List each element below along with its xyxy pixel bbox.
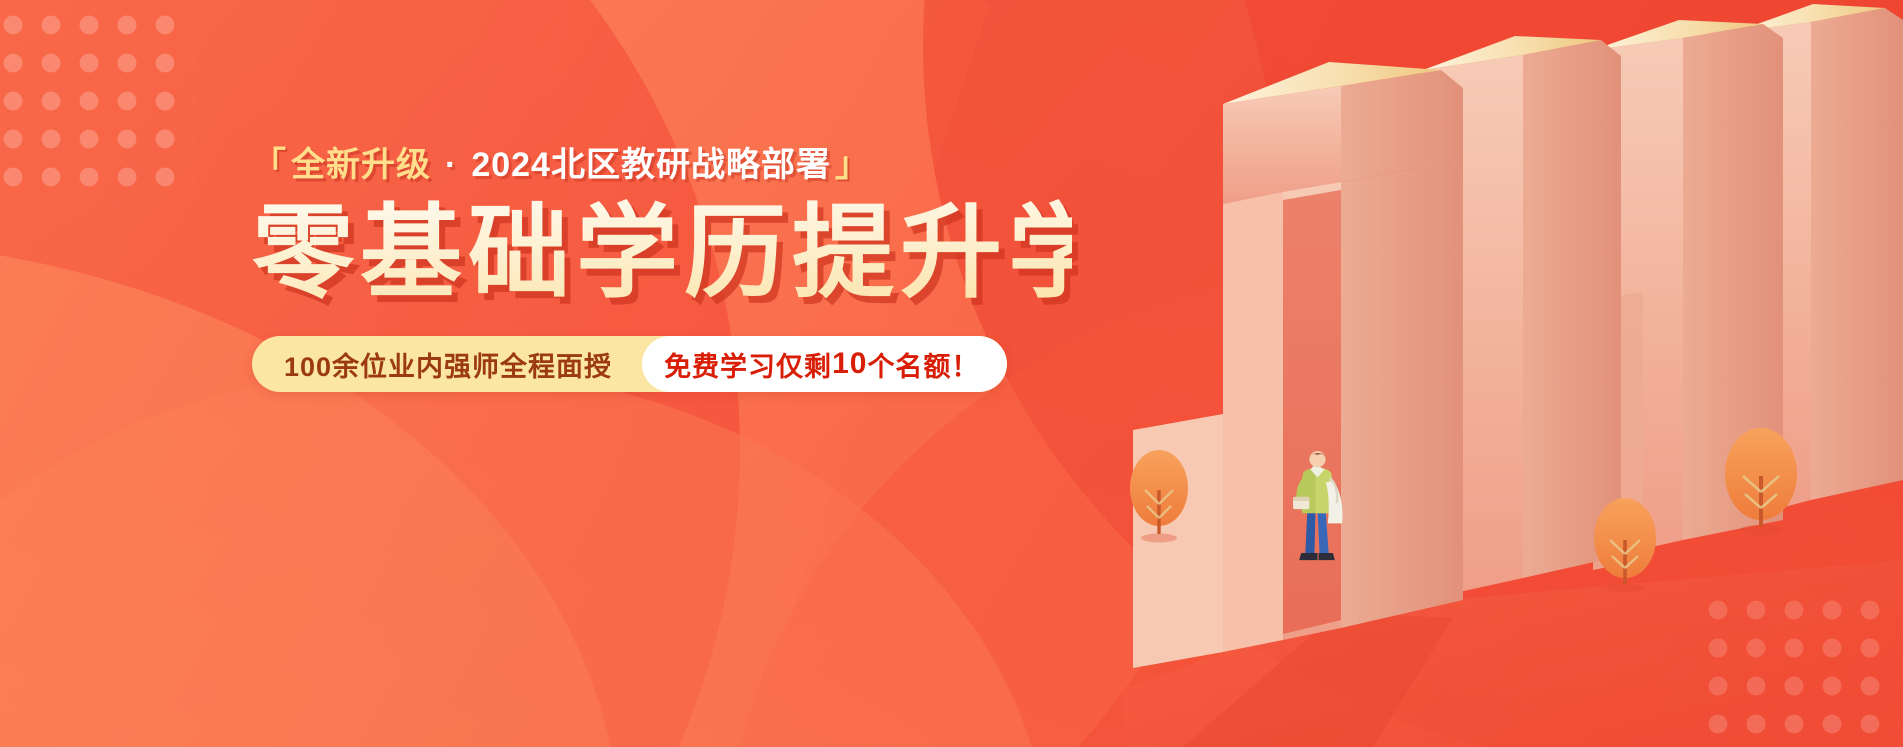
banner-pill-group: 100余位业内强师全程面授 免费学习仅剩 10 个名额！: [252, 336, 1007, 392]
banner-title: 零基础学历提升学霸班: [252, 196, 1072, 310]
dot-grid-bottom-right: [1699, 591, 1899, 747]
promo-banner: 「 全新升级 · 2024北区教研战略部署 」 零基础学历提升学霸班 100余位…: [0, 0, 1903, 747]
subtitle-highlight: 全新升级: [291, 148, 431, 182]
pill-instructors: 100余位业内强师全程面授: [252, 336, 642, 392]
pill-free-slots-suffix: 个名额！: [867, 345, 979, 384]
pill-free-slots-prefix: 免费学习仅剩: [664, 345, 832, 384]
banner-subtitle: 「 全新升级 · 2024北区教研战略部署 」: [252, 148, 1072, 182]
dot-grid-top-left: [0, 6, 194, 196]
bracket-open-icon: 「: [252, 148, 287, 182]
banner-copy: 「 全新升级 · 2024北区教研战略部署 」 零基础学历提升学霸班 100余位…: [252, 148, 1072, 392]
pill-free-slots-count: 10: [832, 347, 867, 381]
bracket-close-icon: 」: [835, 148, 870, 182]
pill-free-slots[interactable]: 免费学习仅剩 10 个名额！: [642, 336, 1007, 392]
subtitle-separator: ·: [445, 148, 457, 182]
subtitle-rest: 2024北区教研战略部署: [471, 148, 831, 182]
